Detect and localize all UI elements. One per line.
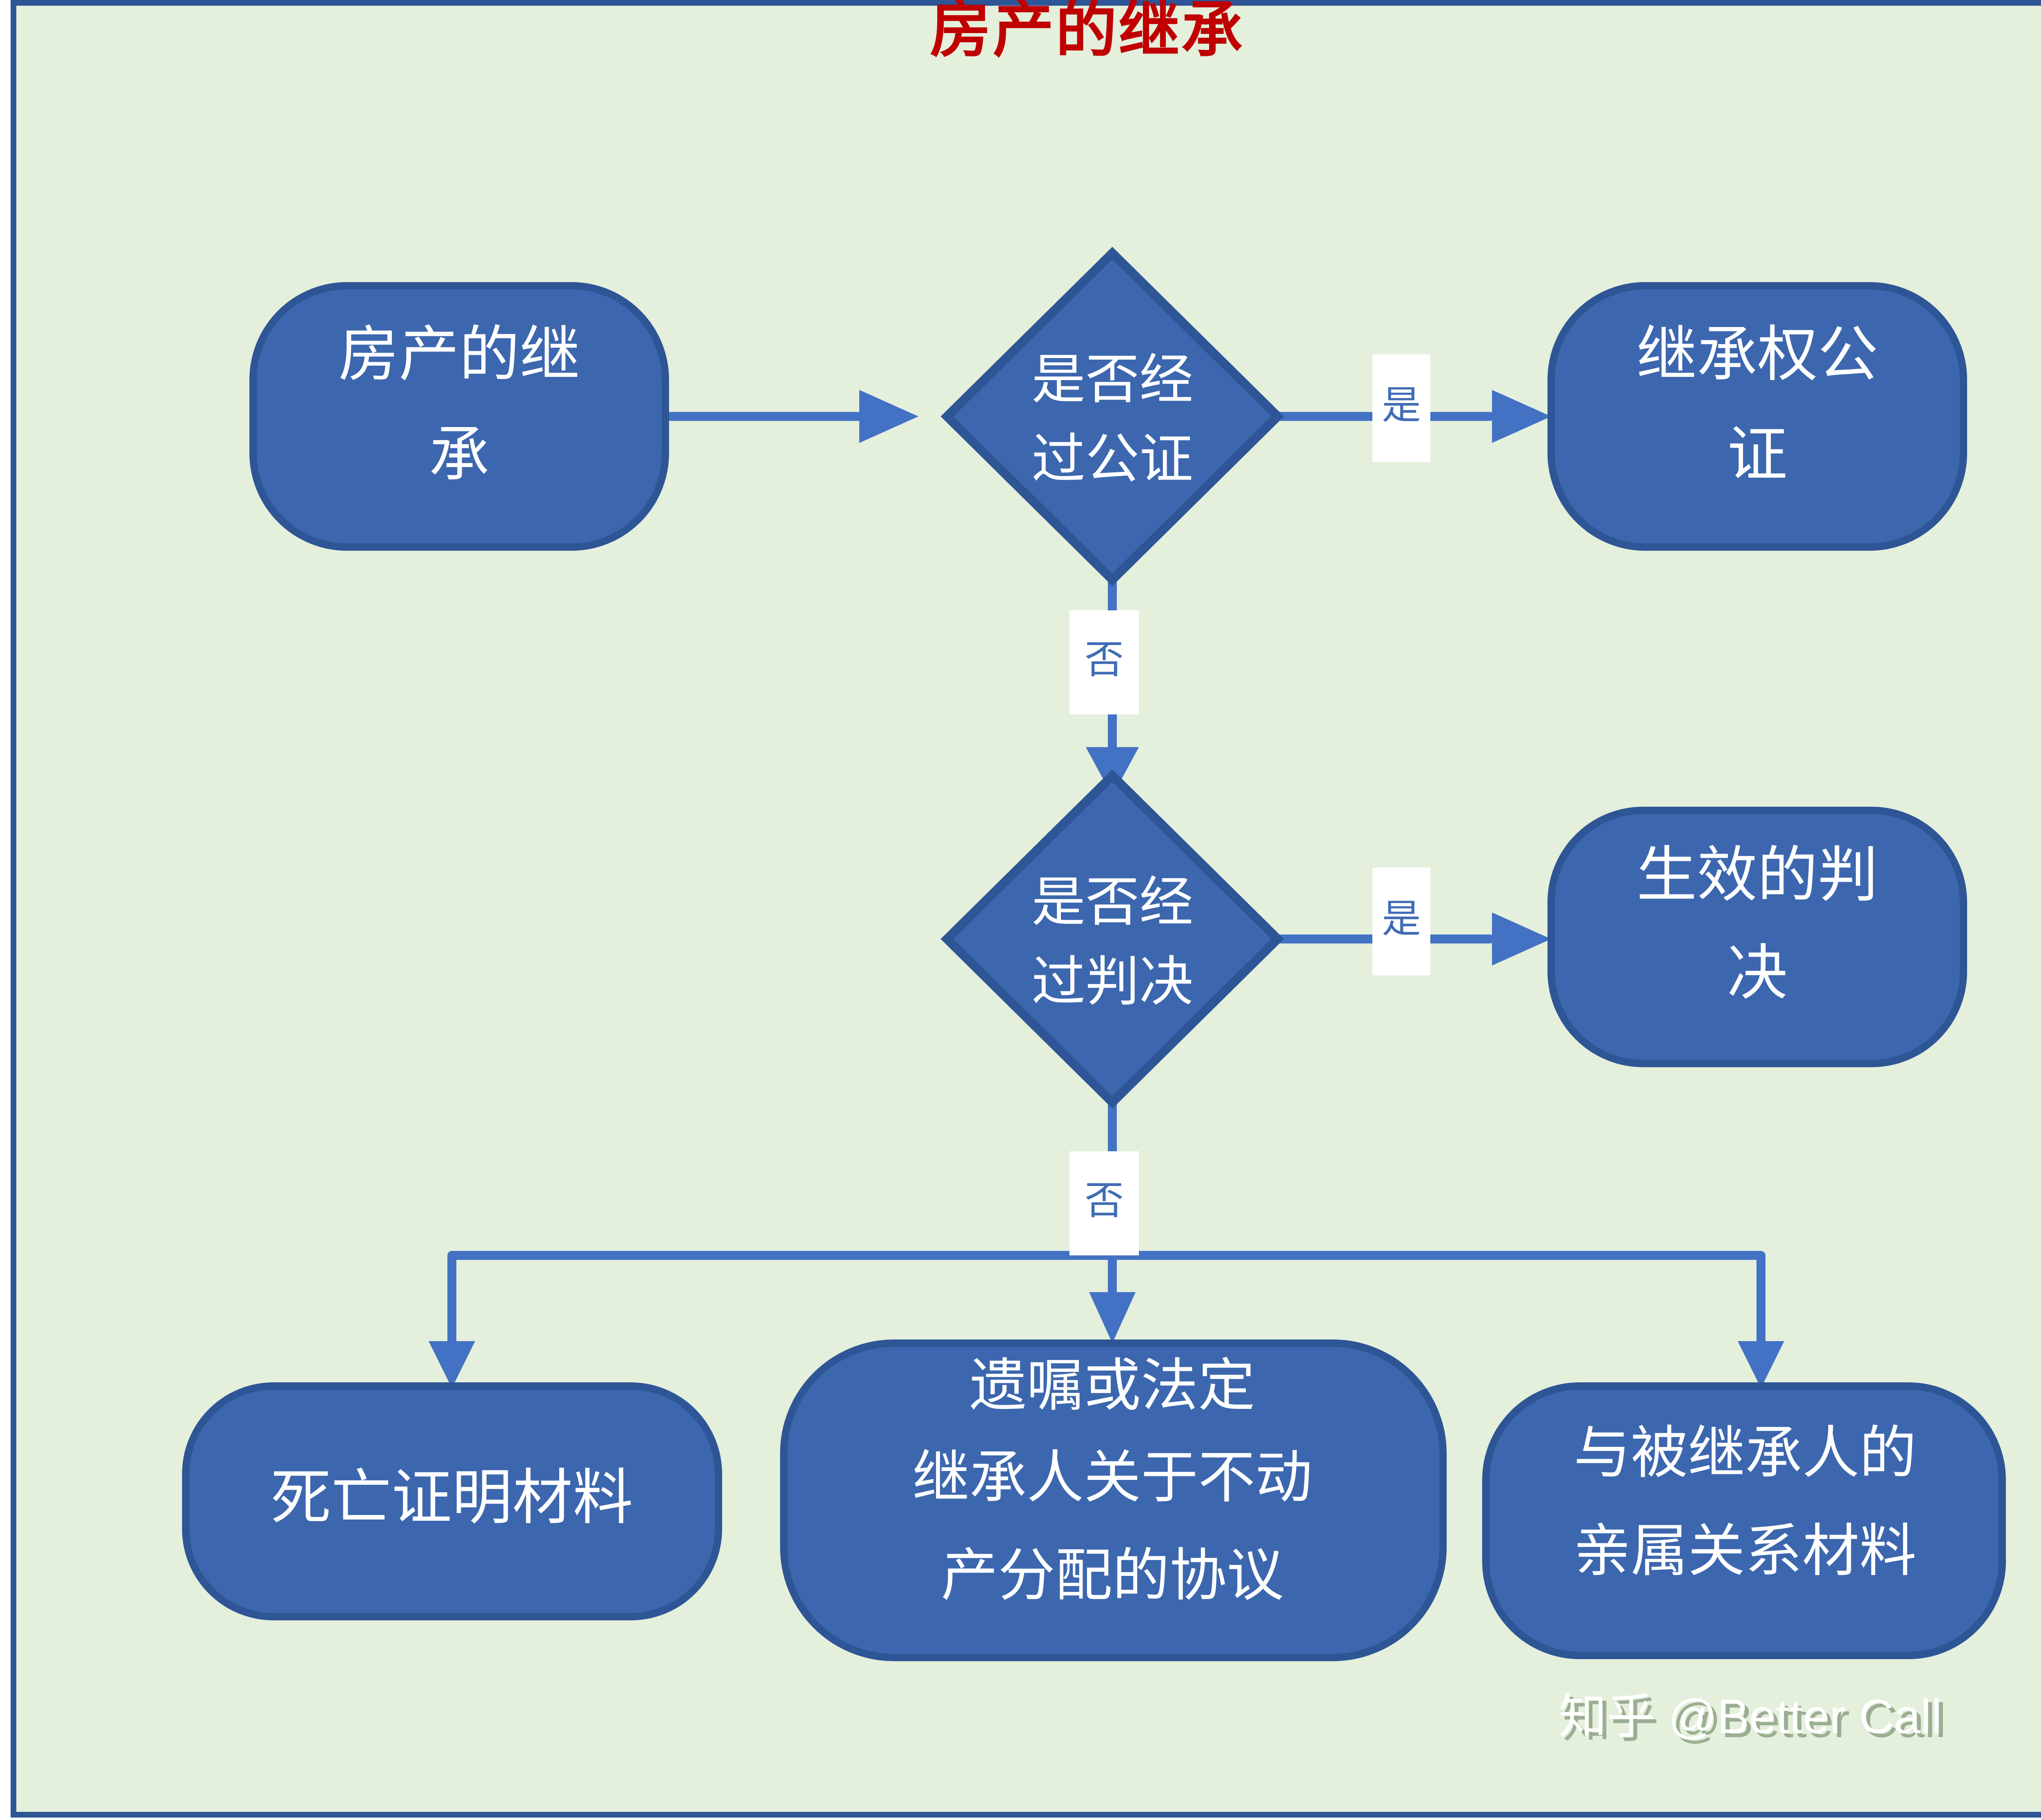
node-notary-cert-line-2: 证 (1727, 421, 1788, 488)
watermark-text: 知乎 @Better Call (1559, 1690, 1942, 1744)
node-effective-judgment-line-2: 决 (1727, 939, 1788, 1007)
watermark: 知乎 @Better Call 知乎 @Better Call (1559, 1690, 1946, 1748)
edge-label-yes-notary: 是 (1372, 354, 1430, 462)
edge-start-to-notary-decision (663, 390, 918, 443)
edge-label-no-notary: 否 (1069, 610, 1139, 714)
node-notary-cert[interactable]: 继承权公 证 (1551, 286, 1963, 547)
node-decision-judgment-shape[interactable] (947, 776, 1278, 1102)
node-kinship-materials-line-1: 与被继承人的 (1574, 1421, 1916, 1485)
page-title: 房产的继承 (930, 0, 1244, 65)
node-notary-cert-line-1: 继承权公 (1636, 321, 1878, 388)
node-death-cert-line-1: 死亡证明材料 (271, 1464, 633, 1531)
node-decision-judgment-line-2: 过判决 (1032, 952, 1193, 1012)
edge-label-no-judgment-text: 否 (1085, 1179, 1124, 1222)
node-will-agreement-line-2: 继承人关于不动 (912, 1445, 1312, 1509)
flowchart-svg: 房产的继承 (0, 0, 2041, 1820)
node-will-agreement-line-1: 遗嘱或法定 (969, 1353, 1255, 1417)
node-decision-notary-line-2: 过公证 (1032, 429, 1193, 489)
edge-label-yes-judgment: 是 (1372, 868, 1430, 975)
edge-label-no-judgment: 否 (1069, 1151, 1139, 1255)
node-start-line-2: 承 (429, 421, 489, 488)
node-kinship-materials[interactable]: 与被继承人的 亲属关系材料 (1486, 1386, 2002, 1655)
node-start-line-1: 房产的继 (338, 321, 580, 388)
node-decision-judgment[interactable]: 是否经 过判决 (947, 776, 1278, 1102)
node-decision-judgment-line-1: 是否经 (1032, 872, 1193, 932)
node-will-agreement[interactable]: 遗嘱或法定 继承人关于不动 产分配的协议 (784, 1343, 1443, 1658)
edge-label-yes-judgment-text: 是 (1382, 897, 1421, 941)
node-death-cert[interactable]: 死亡证明材料 (186, 1386, 718, 1617)
node-will-agreement-line-3: 产分配的协议 (941, 1543, 1284, 1607)
node-decision-notary-shape[interactable] (947, 253, 1278, 580)
node-start[interactable]: 房产的继 承 (253, 286, 665, 547)
node-decision-notary[interactable]: 是否经 过公证 (947, 253, 1278, 580)
edge-label-yes-notary-text: 是 (1382, 383, 1421, 427)
node-kinship-materials-line-2: 亲属关系材料 (1574, 1519, 1916, 1583)
node-effective-judgment[interactable]: 生效的判 决 (1551, 810, 1963, 1064)
edge-label-no-notary-text: 否 (1085, 638, 1124, 681)
node-decision-notary-line-1: 是否经 (1032, 349, 1193, 409)
flowchart-canvas: 房产的继承 (0, 0, 2041, 1820)
node-effective-judgment-line-1: 生效的判 (1636, 841, 1878, 909)
